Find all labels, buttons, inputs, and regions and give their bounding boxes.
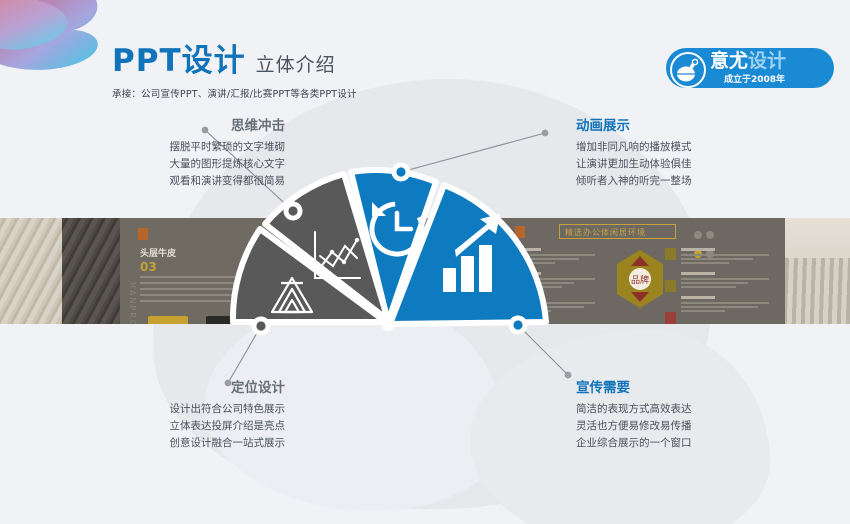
callout-bottom-left-body: 设计出符合公司特色展示 立体表达投屏介绍是亮点 创意设计融合一站式展示 — [45, 401, 285, 452]
page-title-main: PPT设计 — [112, 43, 246, 79]
callout-top-left-line-3: 观看和演讲变得都很简易 — [170, 175, 286, 187]
callout-bottom-right-heading: 宣传需要 — [576, 382, 816, 396]
node-center — [382, 319, 394, 331]
brand-name: 意尤设计 — [710, 52, 786, 71]
callout-top-right-line-3: 倾听者入神的听完一整场 — [576, 175, 692, 187]
callout-bottom-left-heading: 定位设计 — [45, 382, 285, 396]
connector-top-right — [401, 133, 545, 172]
callout-top-right-heading: 动画展示 — [576, 120, 816, 134]
callout-bottom-left: 定位设计 设计出符合公司特色展示 立体表达投屏介绍是亮点 创意设计融合一站式展示 — [45, 382, 285, 452]
callout-top-right: 动画展示 增加非同凡响的播放模式 让演讲更加生动体验俱佳 倾听者入神的听完一整场 — [576, 120, 816, 190]
callout-top-right-line-2: 让演讲更加生动体验俱佳 — [576, 158, 692, 170]
callout-bottom-right-line-3: 企业综合展示的一个窗口 — [576, 437, 692, 449]
callout-top-left-body: 摆脱平时繁琐的文字堆砌 大量的图形提炼核心文字 观看和演讲变得都很简易 — [45, 139, 285, 190]
callout-top-right-body: 增加非同凡响的播放模式 让演讲更加生动体验俱佳 倾听者入神的听完一整场 — [576, 139, 816, 190]
callout-bottom-right-body: 简洁的表现方式高效表达 灵活也方便易修改易传播 企业综合展示的一个窗口 — [576, 401, 816, 452]
callout-bottom-right-line-1: 简洁的表现方式高效表达 — [576, 403, 692, 415]
callout-bottom-right-line-2: 灵活也方便易修改易传播 — [576, 420, 692, 432]
page-title-group: PPT设计立体介绍 承接：公司宣传PPT、演讲/汇报/比赛PPT等各类PPT设计 — [112, 46, 357, 100]
slide-canvas: 精选办公体闲居环境 头层牛皮 03 HANPRO 精选办公体闲居环境 — [0, 0, 850, 524]
page-title-sub: 立体介绍 — [256, 54, 336, 76]
page-title: PPT设计立体介绍 — [112, 46, 357, 77]
endpoint-dot-bottom-right — [565, 372, 572, 379]
connector-bottom-right — [518, 325, 568, 375]
callout-top-left-heading: 思维冲击 — [45, 120, 285, 134]
brand-established: 成立于2008年 — [724, 72, 785, 85]
callout-top-left-line-2: 大量的图形提炼核心文字 — [170, 158, 286, 170]
brand-name-bold: 意尤 — [710, 50, 748, 72]
callout-top-left-line-1: 摆脱平时繁琐的文字堆砌 — [170, 141, 286, 153]
mouse-icon — [670, 52, 706, 88]
callout-bottom-left-line-1: 设计出符合公司特色展示 — [170, 403, 286, 415]
callout-bottom-left-line-3: 创意设计融合一站式展示 — [170, 437, 286, 449]
connector-bottom-left — [228, 326, 261, 383]
brand-name-soft: 设计 — [748, 50, 786, 72]
callout-bottom-right: 宣传需要 简洁的表现方式高效表达 灵活也方便易修改易传播 企业综合展示的一个窗口 — [576, 382, 816, 452]
page-subtitle: 承接：公司宣传PPT、演讲/汇报/比赛PPT等各类PPT设计 — [112, 86, 357, 100]
brand-logo[interactable]: 意尤设计 成立于2008年 — [666, 48, 834, 88]
callout-bottom-left-line-2: 立体表达投屏介绍是亮点 — [170, 420, 286, 432]
callout-top-left: 思维冲击 摆脱平时繁琐的文字堆砌 大量的图形提炼核心文字 观看和演讲变得都很简易 — [45, 120, 285, 190]
callout-top-right-line-1: 增加非同凡响的播放模式 — [576, 141, 692, 153]
endpoint-dot-top-right — [542, 130, 549, 137]
